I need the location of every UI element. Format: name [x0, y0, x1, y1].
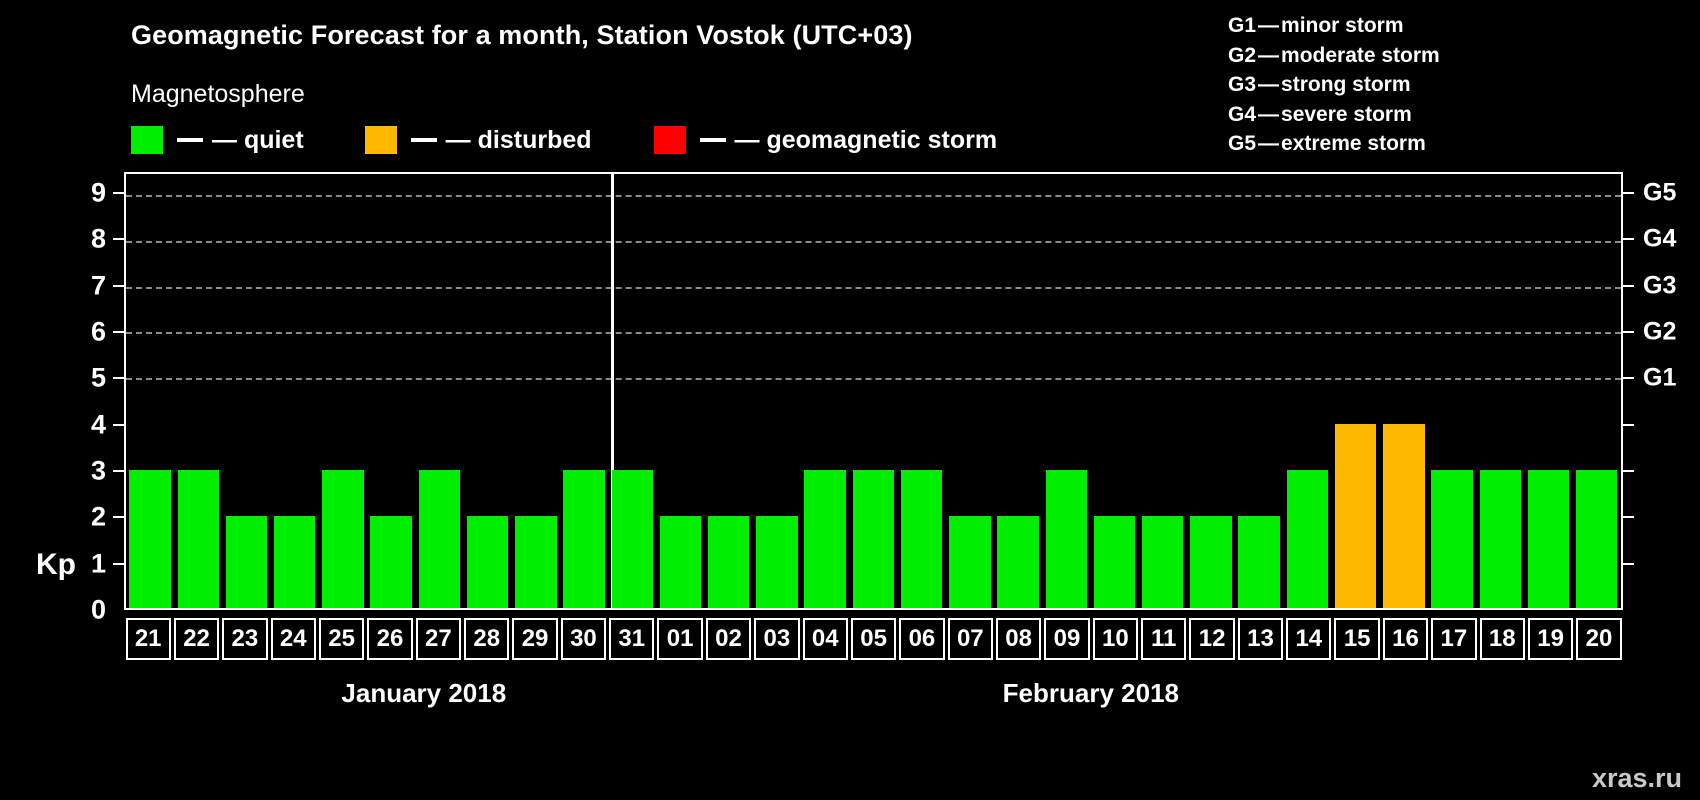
bar-february-15[interactable]	[1335, 424, 1376, 608]
bar-cell[interactable]	[994, 174, 1042, 608]
bar-cell[interactable]	[415, 174, 463, 608]
bar-february-17[interactable]	[1431, 470, 1472, 608]
bar-cell[interactable]	[174, 174, 222, 608]
bar-cell[interactable]	[464, 174, 512, 608]
bar-february-05[interactable]	[853, 470, 894, 608]
legend-item-disturbed: — disturbed	[365, 126, 592, 154]
date-cell[interactable]: 01	[657, 618, 702, 660]
y-tick-mark-1	[113, 563, 124, 565]
date-cell[interactable]: 16	[1383, 618, 1428, 660]
bar-cell[interactable]	[1235, 174, 1283, 608]
y-tick-label-6: 6	[91, 316, 106, 347]
legend-swatch-quiet	[131, 126, 163, 154]
bar-january-25[interactable]	[322, 470, 363, 608]
bar-cell[interactable]	[1573, 174, 1621, 608]
magnetosphere-heading: Magnetosphere	[131, 80, 305, 109]
bar-february-08[interactable]	[997, 516, 1038, 608]
legend-dash-quiet	[177, 138, 203, 142]
g-legend-row-g5: G5 — extreme storm	[1228, 129, 1440, 159]
date-cell[interactable]: 28	[464, 618, 509, 660]
y-axis: Kp 0123456789	[0, 172, 124, 610]
legend-dash-storm	[700, 138, 726, 142]
bar-january-28[interactable]	[467, 516, 508, 608]
date-cell[interactable]: 15	[1334, 618, 1379, 660]
bar-cell[interactable]	[849, 174, 897, 608]
legend-item-quiet: — quiet	[131, 126, 304, 154]
bar-cell[interactable]	[1428, 174, 1476, 608]
g-legend-description: extreme storm	[1281, 132, 1426, 155]
date-cell[interactable]: 05	[851, 618, 896, 660]
bar-cell[interactable]	[512, 174, 560, 608]
bar-february-19[interactable]	[1528, 470, 1569, 608]
date-cell[interactable]: 24	[271, 618, 316, 660]
y-tick-label-2: 2	[91, 502, 106, 533]
bar-february-02[interactable]	[708, 516, 749, 608]
g-legend-code: G5	[1228, 129, 1256, 159]
bar-cell[interactable]	[1090, 174, 1138, 608]
bar-february-12[interactable]	[1190, 516, 1231, 608]
g-axis-tick-g2	[1623, 331, 1634, 333]
date-cell[interactable]: 04	[803, 618, 848, 660]
bar-cell[interactable]	[271, 174, 319, 608]
y-tick-label-5: 5	[91, 363, 106, 394]
date-cell[interactable]: 23	[222, 618, 267, 660]
y-tick-mark-3	[113, 470, 124, 472]
bar-cell[interactable]	[222, 174, 270, 608]
bar-february-06[interactable]	[901, 470, 942, 608]
y-tick-label-4: 4	[91, 409, 106, 440]
date-cell[interactable]: 14	[1286, 618, 1331, 660]
g-legend-row-g2: G2 — moderate storm	[1228, 41, 1440, 71]
date-cell[interactable]: 20	[1576, 618, 1621, 660]
g-axis-tick-kp-3	[1623, 470, 1634, 472]
bar-february-14[interactable]	[1287, 470, 1328, 608]
bar-january-27[interactable]	[419, 470, 460, 608]
bar-cell[interactable]	[1187, 174, 1235, 608]
g-scale-axis: G1G2G3G4G5	[1623, 172, 1700, 610]
bar-january-23[interactable]	[226, 516, 267, 608]
y-tick-label-7: 7	[91, 270, 106, 301]
date-axis: 2122232425262728293031010203040506070809…	[124, 618, 1623, 660]
g-axis-label-g2: G2	[1643, 317, 1676, 346]
y-tick-label-3: 3	[91, 455, 106, 486]
g-legend-row-g1: G1 — minor storm	[1228, 11, 1440, 41]
bar-cell[interactable]	[367, 174, 415, 608]
y-tick-mark-5	[113, 377, 124, 379]
g-legend-description: minor storm	[1281, 14, 1404, 37]
bar-february-07[interactable]	[949, 516, 990, 608]
date-cell[interactable]: 02	[706, 618, 751, 660]
date-cell[interactable]: 03	[754, 618, 799, 660]
date-cell[interactable]: 13	[1238, 618, 1283, 660]
y-tick-label-9: 9	[91, 177, 106, 208]
date-cell[interactable]: 11	[1141, 618, 1186, 660]
y-tick-mark-7	[113, 285, 124, 287]
bar-cell[interactable]	[946, 174, 994, 608]
date-cell[interactable]: 29	[512, 618, 557, 660]
date-cell[interactable]: 06	[899, 618, 944, 660]
y-tick-label-0: 0	[91, 595, 106, 626]
bar-january-21[interactable]	[129, 470, 170, 608]
bar-cell[interactable]	[1283, 174, 1331, 608]
bar-cell[interactable]	[1139, 174, 1187, 608]
g-axis-tick-g5	[1623, 192, 1634, 194]
g-axis-label-g4: G4	[1643, 225, 1676, 254]
y-tick-mark-8	[113, 238, 124, 240]
date-cell[interactable]: 19	[1528, 618, 1573, 660]
bar-january-31[interactable]	[612, 470, 653, 608]
g-legend-description: severe storm	[1281, 103, 1412, 126]
date-cell[interactable]: 08	[996, 618, 1041, 660]
magnetosphere-legend: — quiet — disturbed — geomagnetic storm	[131, 125, 997, 155]
legend-dash-disturbed	[411, 138, 437, 142]
date-cell[interactable]: 25	[319, 618, 364, 660]
bar-february-18[interactable]	[1480, 470, 1521, 608]
g-legend-separator: —	[1256, 11, 1281, 41]
bar-cell[interactable]	[801, 174, 849, 608]
page-title: Geomagnetic Forecast for a month, Statio…	[131, 20, 913, 51]
bar-february-09[interactable]	[1046, 470, 1087, 608]
date-cell[interactable]: 09	[1044, 618, 1089, 660]
date-cell[interactable]: 10	[1093, 618, 1138, 660]
g-scale-legend: G1 — minor stormG2 — moderate stormG3 — …	[1228, 11, 1440, 159]
g-legend-code: G2	[1228, 41, 1256, 71]
g-legend-row-g3: G3 — strong storm	[1228, 70, 1440, 100]
y-axis-label: Kp	[36, 548, 76, 582]
date-cell[interactable]: 30	[561, 618, 606, 660]
g-legend-separator: —	[1256, 129, 1281, 159]
g-legend-description: moderate storm	[1281, 44, 1440, 67]
bar-february-16[interactable]	[1383, 424, 1424, 608]
legend-label-quiet: — quiet	[212, 128, 304, 153]
bar-january-24[interactable]	[274, 516, 315, 608]
bar-cell[interactable]	[898, 174, 946, 608]
bar-january-30[interactable]	[563, 470, 604, 608]
bar-february-11[interactable]	[1142, 516, 1183, 608]
g-legend-separator: —	[1256, 70, 1281, 100]
y-tick-label-1: 1	[91, 548, 106, 579]
legend-label-storm: — geomagnetic storm	[735, 128, 998, 153]
bar-february-01[interactable]	[660, 516, 701, 608]
y-tick-mark-6	[113, 331, 124, 333]
g-legend-code: G4	[1228, 100, 1256, 130]
bar-february-13[interactable]	[1238, 516, 1279, 608]
bar-cell[interactable]	[1331, 174, 1379, 608]
date-cell[interactable]: 18	[1480, 618, 1525, 660]
bar-february-10[interactable]	[1094, 516, 1135, 608]
g-legend-separator: —	[1256, 41, 1281, 71]
g-axis-tick-kp-4	[1623, 424, 1634, 426]
date-cell[interactable]: 22	[174, 618, 219, 660]
date-cell[interactable]: 07	[948, 618, 993, 660]
g-axis-tick-g1	[1623, 377, 1634, 379]
date-cell[interactable]: 12	[1189, 618, 1234, 660]
y-tick-mark-9	[113, 192, 124, 194]
legend-item-storm: — geomagnetic storm	[654, 126, 998, 154]
bar-cell[interactable]	[705, 174, 753, 608]
bar-cell[interactable]	[1476, 174, 1524, 608]
y-tick-mark-4	[113, 424, 124, 426]
bar-february-20[interactable]	[1576, 470, 1617, 608]
bar-cell[interactable]	[1042, 174, 1090, 608]
g-legend-row-g4: G4 — severe storm	[1228, 100, 1440, 130]
date-cell[interactable]: 31	[609, 618, 654, 660]
legend-swatch-storm	[654, 126, 686, 154]
bar-cell[interactable]	[1380, 174, 1428, 608]
legend-swatch-disturbed	[365, 126, 397, 154]
month-label-february: February 2018	[1003, 678, 1179, 709]
g-legend-description: strong storm	[1281, 73, 1411, 96]
g-axis-label-g1: G1	[1643, 364, 1676, 393]
chart-plot-area	[124, 172, 1623, 610]
g-legend-code: G1	[1228, 11, 1256, 41]
bar-january-26[interactable]	[370, 516, 411, 608]
legend-label-disturbed: — disturbed	[446, 128, 592, 153]
date-cell[interactable]: 17	[1431, 618, 1476, 660]
y-tick-mark-2	[113, 516, 124, 518]
g-legend-separator: —	[1256, 100, 1281, 130]
bar-cell[interactable]	[608, 174, 656, 608]
bar-february-04[interactable]	[804, 470, 845, 608]
bar-february-03[interactable]	[756, 516, 797, 608]
g-axis-tick-kp-1	[1623, 563, 1634, 565]
g-axis-label-g5: G5	[1643, 178, 1676, 207]
bar-cell[interactable]	[1524, 174, 1572, 608]
g-axis-label-g3: G3	[1643, 271, 1676, 300]
g-legend-code: G3	[1228, 70, 1256, 100]
g-axis-tick-g3	[1623, 285, 1634, 287]
date-cell[interactable]: 27	[416, 618, 461, 660]
date-cell[interactable]: 21	[126, 618, 171, 660]
bar-cell[interactable]	[126, 174, 174, 608]
month-label-january: January 2018	[341, 678, 506, 709]
bar-january-29[interactable]	[515, 516, 556, 608]
y-tick-label-8: 8	[91, 224, 106, 255]
watermark: xras.ru	[1592, 763, 1682, 794]
g-axis-tick-kp-2	[1623, 516, 1634, 518]
bar-cell[interactable]	[319, 174, 367, 608]
bar-cell[interactable]	[753, 174, 801, 608]
date-cell[interactable]: 26	[367, 618, 412, 660]
bar-january-22[interactable]	[178, 470, 219, 608]
bar-cell[interactable]	[560, 174, 608, 608]
g-axis-tick-g4	[1623, 238, 1634, 240]
bar-cell[interactable]	[656, 174, 704, 608]
bar-series	[126, 174, 1621, 608]
